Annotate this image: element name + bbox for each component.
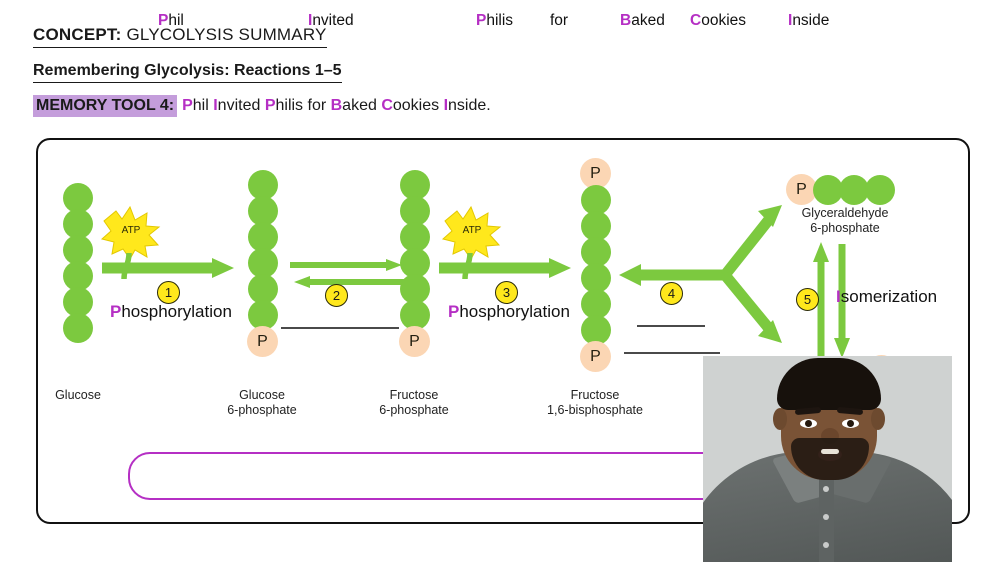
blank-line-reaction-4-a: [637, 325, 705, 327]
atp-label: ATP: [443, 205, 501, 255]
phosphate-circle: P: [247, 326, 278, 357]
presenter-pupil-right: [847, 420, 854, 427]
phosphate-circle: P: [399, 326, 430, 357]
reaction-number-5: 5: [796, 288, 819, 311]
reaction-arrow-2: [288, 258, 408, 290]
molecule-label-glucose-6-phosphate: Glucose6-phosphate: [212, 388, 312, 418]
molecule-label-fructose-6-phosphate: Fructose6-phosphate: [364, 388, 464, 418]
mnemonic-word-3: Philis: [476, 12, 513, 30]
mnemonic-word-5: Baked: [620, 12, 665, 30]
concept-label: CONCEPT:: [33, 25, 122, 44]
presenter-shirt-button: [823, 542, 829, 548]
molecule-fructose-1-6-bisphosphate: P P: [580, 160, 611, 370]
phosphate-circle: P: [580, 341, 611, 372]
reaction-arrow-1: [100, 255, 240, 281]
carbon-circle: [865, 175, 895, 205]
atp-star-reaction-1: ATP: [102, 205, 160, 257]
molecule-label-glyceraldehyde-6-phosphate: Glyceraldehyde6-phosphate: [775, 206, 915, 236]
reaction-name-3: Phosphorylation: [448, 302, 570, 322]
mnemonic-word-6: Cookies: [690, 12, 746, 30]
memory-tool-line: MEMORY TOOL 4:Phil Invited Philis for Ba…: [33, 97, 491, 115]
atp-star-reaction-3: ATP: [443, 205, 501, 257]
presenter-shirt-button: [823, 486, 829, 492]
reaction-name-5: Isomerization: [836, 287, 937, 307]
blank-line-reaction-2: [281, 327, 399, 329]
mnemonic-word-4: for: [550, 12, 568, 30]
presenter-teeth: [821, 449, 839, 454]
molecule-label-fructose-1-6-bisphosphate: Fructose1,6-bisphosphate: [520, 388, 670, 418]
memory-tool-badge: MEMORY TOOL 4:: [33, 95, 177, 117]
atp-label: ATP: [102, 205, 160, 255]
mnemonic-word-1: Phil: [158, 12, 184, 30]
slide-canvas: CONCEPT: GLYCOLYSIS SUMMARY Remembering …: [0, 0, 1000, 562]
reaction-number-4: 4: [660, 282, 683, 305]
carbon-circle: [63, 313, 93, 343]
molecule-label-glucose: Glucose: [28, 388, 128, 403]
mnemonic-word-2: Invited: [308, 12, 354, 30]
reaction-arrow-4-branch: [615, 195, 795, 365]
reaction-number-2: 2: [325, 284, 348, 307]
reaction-number-3: 3: [495, 281, 518, 304]
presenter-ear-left: [773, 408, 787, 430]
mnemonic-word-7: Inside: [788, 12, 829, 30]
reaction-number-1: 1: [157, 281, 180, 304]
section-subtitle: Remembering Glycolysis: Reactions 1–5: [33, 62, 342, 83]
reaction-arrow-3: [437, 255, 577, 281]
blank-line-reaction-4-b: [624, 352, 720, 354]
presenter-hair: [777, 358, 881, 410]
molecule-glucose-6-phosphate: P: [247, 172, 278, 355]
molecule-glyceraldehyde-6-phosphate: P: [788, 174, 893, 205]
presenter-ear-right: [871, 408, 885, 430]
concept-title: GLYCOLYSIS SUMMARY: [126, 25, 326, 44]
molecule-glucose: [63, 185, 93, 341]
presenter-video-overlay[interactable]: [703, 356, 952, 562]
presenter-shirt-button: [823, 514, 829, 520]
reaction-name-1: Phosphorylation: [110, 302, 232, 322]
memory-tool-sentence: Phil Invited Philis for Baked Cookies In…: [177, 97, 491, 114]
presenter-pupil-left: [805, 420, 812, 427]
